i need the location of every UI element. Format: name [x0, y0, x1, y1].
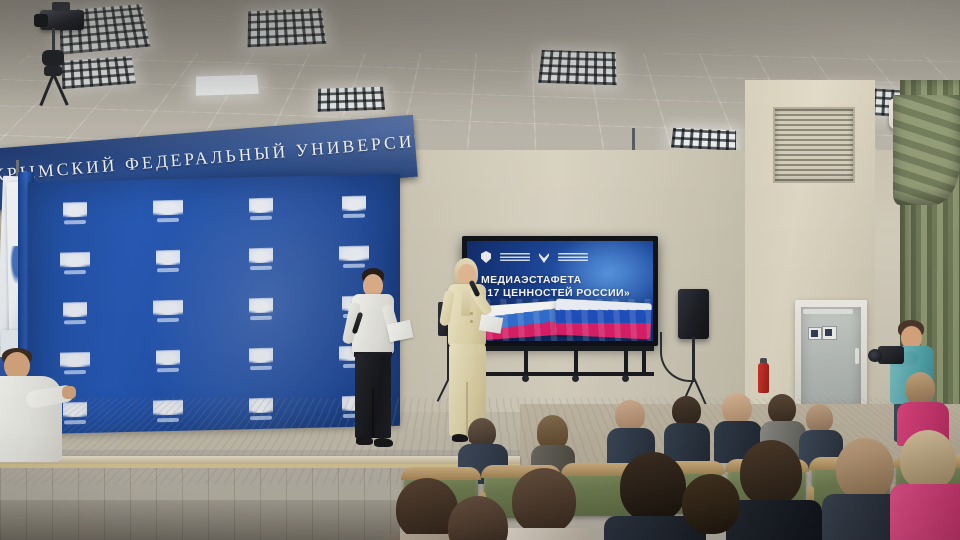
crest-icon: [246, 296, 276, 321]
shoe: [374, 438, 393, 447]
screen-title-line2: «17 ЦЕННОСТЕЙ РОССИИ»: [481, 287, 630, 299]
exit-door[interactable]: [801, 307, 861, 412]
crest-icon: [60, 200, 90, 225]
caster-wheel: [572, 375, 579, 382]
door-sign: [808, 327, 822, 340]
camera-grip: [42, 50, 64, 66]
caster-wheel: [522, 375, 529, 382]
crest-icon: [246, 196, 276, 221]
trouser-split: [372, 388, 374, 438]
air-vent-grille: [773, 107, 855, 183]
logo-wordmark-left: [500, 253, 530, 261]
crest-icon: [246, 246, 276, 271]
caster-wheel: [622, 375, 629, 382]
female-presenter: [440, 258, 500, 448]
crest-icon: [339, 243, 369, 268]
camera-top-handle: [52, 2, 70, 11]
crest-icon: [153, 248, 183, 273]
camera-lens-icon: [868, 349, 882, 362]
crest-icon: [246, 346, 276, 371]
blazer-button: [470, 312, 473, 315]
crest-icon: [153, 198, 183, 223]
crest-icon: [153, 348, 183, 373]
fire-extinguisher: [758, 363, 769, 393]
shoe: [452, 434, 468, 442]
crest-icon: [60, 250, 90, 275]
door-closer-bar: [803, 309, 853, 314]
crest-icon: [153, 298, 183, 323]
crest-icon: [339, 193, 369, 218]
hand: [62, 386, 76, 399]
blazer-button: [470, 320, 473, 323]
auditorium-photograph: КРЫМСКИЙ ФЕДЕРАЛЬНЫЙ УНИВЕРСИТЕТ: [0, 0, 960, 540]
crest-icon: [60, 300, 90, 325]
foreground-shadow: [0, 500, 400, 540]
door-handle[interactable]: [855, 348, 859, 364]
logo-wordmark-right: [558, 253, 588, 261]
door-sign: [822, 326, 837, 340]
camera-lens-icon: [34, 14, 48, 27]
eagle-v-emblem-icon: [539, 251, 549, 263]
shoe: [356, 436, 373, 445]
male-presenter: [346, 268, 406, 448]
curtain-valance: [893, 95, 960, 205]
